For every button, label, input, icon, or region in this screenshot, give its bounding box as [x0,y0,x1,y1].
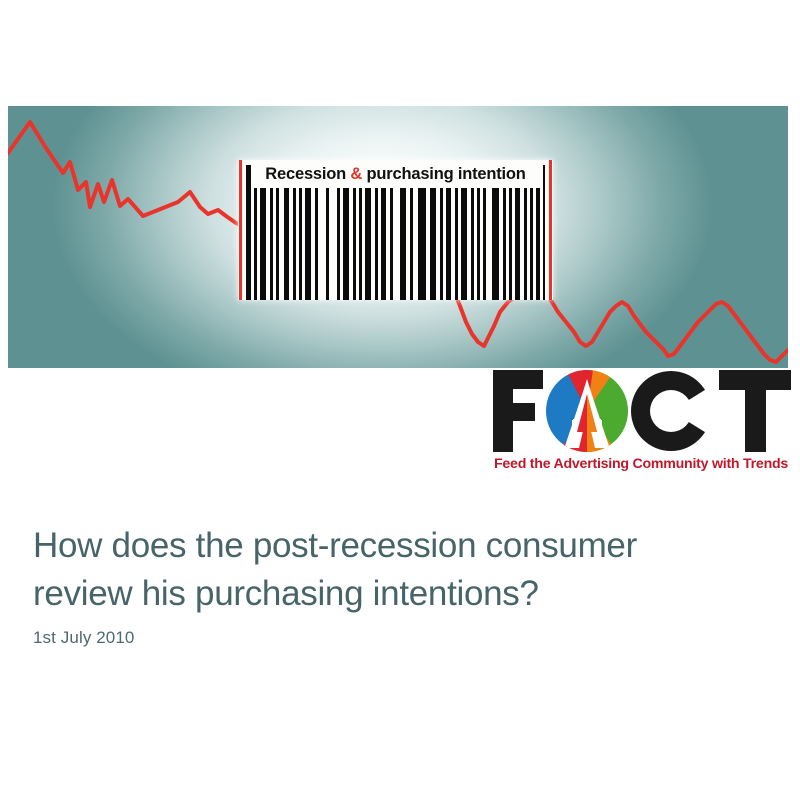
barcode-bar [418,188,426,300]
barcode-bar [337,188,340,300]
fact-logo-letters [489,370,794,452]
barcode-bar [315,188,318,300]
barcode-bar [270,188,273,300]
logo-letter-a [546,370,628,452]
barcode-bar [293,188,296,300]
fact-logo: Feed the Advertising Community with Tren… [489,370,794,480]
barcode-bar [461,188,467,300]
fact-logo-tagline: Feed the Advertising Community with Tren… [494,456,790,472]
barcode-bar [246,165,251,300]
presentation-slide: Recession & purchasing intention [0,0,800,800]
barcode-bar [530,188,533,300]
barcode-bar [260,188,266,300]
barcode-bar [326,188,329,300]
barcode-bar [515,188,520,300]
barcode-bar [381,188,386,300]
barcode-bar [276,188,279,300]
logo-letter-f [493,370,543,452]
barcode-bar [503,188,506,300]
barcode-bar [400,188,406,300]
barcode-bar [254,188,257,300]
barcode-title-ampersand: & [350,165,362,183]
barcode-title-prefix: Recession [265,165,350,183]
barcode-bar [483,188,486,300]
barcode-bar [343,188,349,300]
barcode-title: Recession & purchasing intention [238,165,553,184]
barcode-bar [492,188,499,300]
barcode-bar [390,188,393,300]
barcode-bar [284,188,289,300]
page-title-line-1: How does the post-recession consumer [33,522,763,570]
barcode-bar [365,188,371,300]
barcode-bar [446,188,451,300]
barcode-bar [455,188,458,300]
barcode-bar [477,188,480,300]
logo-letter-c [631,371,721,451]
barcode-bar [375,188,378,300]
barcode-bar [353,188,356,300]
presentation-date: 1st July 2010 [33,628,134,648]
recession-barcode: Recession & purchasing intention [238,160,553,300]
barcode-bar [536,188,540,300]
barcode-bar [299,188,302,300]
barcode-bar [543,165,545,300]
page-title-line-2: review his purchasing intentions? [33,570,763,618]
barcode-bar [430,188,436,300]
barcode-bar [440,188,443,300]
barcode-title-suffix: purchasing intention [362,165,526,183]
page-title: How does the post-recession consumer rev… [33,522,763,618]
barcode-bar [305,188,311,300]
barcode-bar [524,188,527,300]
logo-letter-t [719,370,791,452]
barcode-bar [410,188,413,300]
barcode-bar [509,188,512,300]
barcode-bar [359,188,362,300]
barcode-bar [471,188,474,300]
